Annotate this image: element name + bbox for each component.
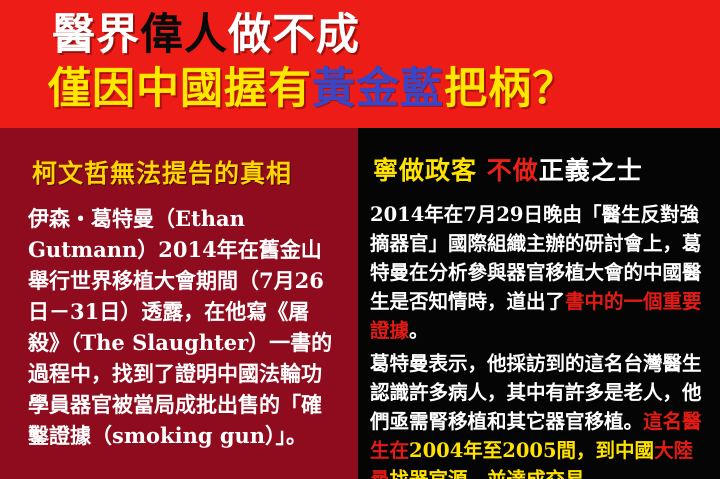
header-banner: 醫界偉人做不成 僅因中國握有黃金藍把柄？ — [0, 0, 720, 128]
right-p2-seg3: 2004年至2005間，到中國 — [409, 439, 654, 462]
left-panel-body: 伊森・葛特曼（Ethan Gutmann）2014年在舊金山舉行世界移植大會期間… — [28, 203, 338, 451]
right-heading-seg2: 不做 — [487, 156, 539, 185]
right-heading-seg3: 正義之士 — [539, 156, 643, 185]
right-panel-body: 2014年在7月29日晚由「醫生反對強摘器官」國際組織主辦的研討會上，葛特曼在分… — [370, 200, 712, 479]
headline-line1-seg1: 醫界 — [52, 10, 140, 60]
left-panel: 柯文哲無法提告的真相 伊森・葛特曼（Ethan Gutmann）2014年在舊金… — [0, 128, 358, 479]
left-panel-heading: 柯文哲無法提告的真相 — [32, 161, 292, 186]
right-heading-seg1: 寧做政客 — [373, 156, 487, 185]
right-paragraph-1: 2014年在7月29日晚由「醫生反對強摘器官」國際組織主辦的研討會上，葛特曼在分… — [370, 200, 712, 345]
headline-line1-seg3: 做不成 — [228, 10, 360, 60]
headline-line1-seg2: 偉人 — [140, 10, 228, 60]
headline-line-2: 僅因中國握有黃金藍把柄？ — [48, 68, 576, 111]
right-panel: 寧做政客 不做正義之士 2014年在7月29日晚由「醫生反對強摘器官」國際組織主… — [358, 128, 720, 479]
right-p2-seg5: 找器官源，並達成交易。 — [390, 468, 605, 479]
headline-line2-seg3: 把柄？ — [444, 64, 576, 114]
headline-line2-seg1: 僅因中國握有 — [48, 64, 312, 114]
headline-line-1: 醫界偉人做不成 — [52, 14, 360, 57]
right-panel-heading: 寧做政客 不做正義之士 — [373, 158, 643, 183]
right-p1-seg3: 。 — [409, 319, 429, 342]
right-paragraph-2: 葛特曼表示，他採訪到的這名台灣醫生認識許多病人，其中有許多是老人，他們亟需腎移植… — [370, 349, 712, 479]
poster-root: 醫界偉人做不成 僅因中國握有黃金藍把柄？ 柯文哲無法提告的真相 伊森・葛特曼（E… — [0, 0, 720, 479]
headline-line2-seg2: 黃金藍 — [312, 64, 444, 114]
